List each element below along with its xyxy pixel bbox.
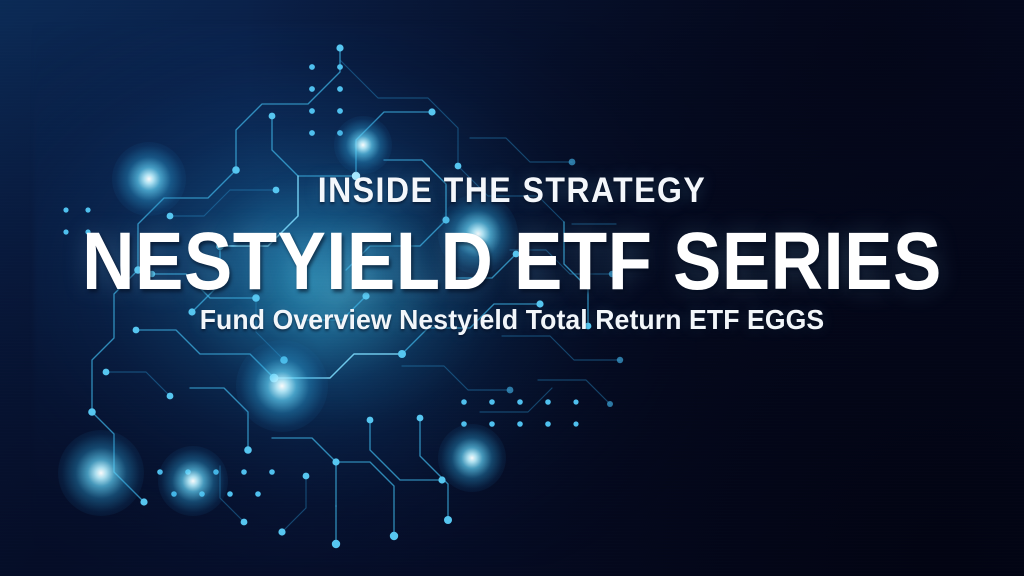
headline-text: NESTYIELD ETF SERIES bbox=[59, 221, 965, 303]
title-slide: INSIDE THE STRATEGY NESTYIELD ETF SERIES… bbox=[0, 0, 1024, 576]
eyebrow-text: INSIDE THE STRATEGY bbox=[44, 173, 981, 208]
subhead-text: Fund Overview Nestyield Total Return ETF… bbox=[26, 306, 999, 334]
